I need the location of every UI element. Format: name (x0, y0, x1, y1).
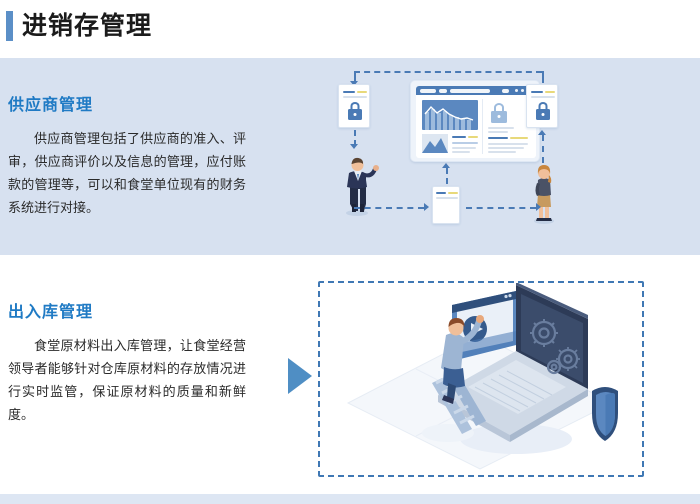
section-heading-inbound-outbound: 出入库管理 (8, 298, 93, 322)
page-title: 进销存管理 (22, 10, 152, 42)
flow-line-bottom-right (466, 207, 536, 209)
lock-icon-dashboard (491, 103, 507, 123)
section-body-supplier: 供应商管理包括了供应商的准入、评审，供应商评价以及信息的管理，应付账款的管理等，… (8, 127, 246, 219)
dashboard-titlebar (416, 86, 536, 95)
security-shield-icon (592, 387, 618, 441)
flow-arrow-up-center (442, 163, 450, 168)
dashboard-panel-divider (482, 99, 483, 154)
flow-arrow-right-center (424, 203, 429, 211)
section-body-inbound-outbound: 食堂原材料出入库管理，让食堂经营领导者能够针对仓库原材料的存放情况进行实时监管，… (8, 334, 246, 426)
flow-line-top-right-drop (542, 71, 544, 83)
flow-arrow-down-to-man (350, 144, 358, 149)
flow-line-bottom-left (354, 207, 424, 209)
flow-line-center-up (446, 168, 448, 184)
document-center (432, 186, 460, 224)
dashboard-window-frame (410, 80, 540, 162)
lock-icon-right (536, 102, 550, 120)
lock-document-left (338, 84, 370, 128)
flow-arrow-up-right (538, 130, 546, 135)
title-accent-bar (6, 11, 13, 41)
flow-line-top (354, 71, 542, 73)
page-root: 进销存管理 供应商管理 供应商管理包括了供应商的准入、评审，供应商评价以及信息的… (0, 0, 700, 504)
section-two-pointer-triangle (288, 358, 312, 394)
supplier-data-flow-illustration (320, 62, 620, 247)
warehouse-laptop-illustration (320, 283, 642, 475)
lock-icon-left (348, 102, 362, 120)
flow-line-right-up (542, 135, 544, 163)
warehouse-illustration-frame (318, 281, 644, 477)
section-heading-supplier: 供应商管理 (8, 91, 93, 115)
dashboard-window (416, 86, 536, 158)
lock-document-right (526, 84, 558, 128)
footer-accent-strip (0, 494, 700, 504)
flow-arrow-right-woman (536, 203, 541, 211)
page-header: 进销存管理 (0, 0, 700, 58)
dashboard-bar-line-chart (422, 100, 478, 130)
dashboard-thumbnail-image (422, 134, 448, 153)
businesswoman-figure (524, 162, 564, 224)
